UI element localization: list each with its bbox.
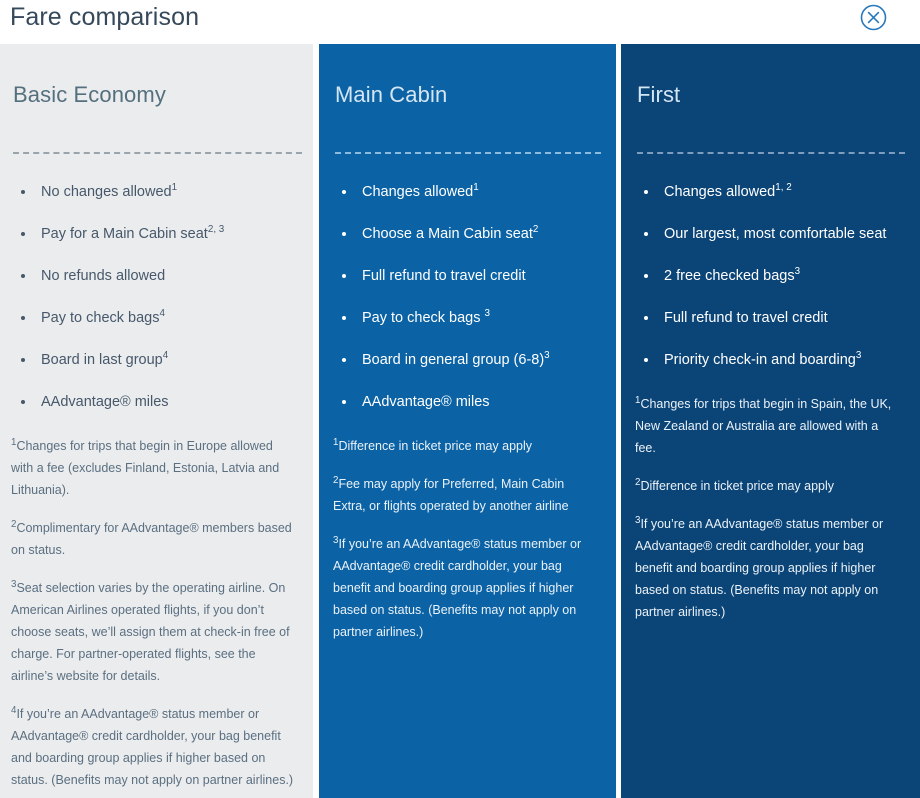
- footnote: 2Fee may apply for Preferred, Main Cabin…: [333, 473, 594, 517]
- footnote-text: Complimentary for AAdvantage® members ba…: [11, 521, 292, 557]
- footnote-ref: 3: [485, 308, 490, 319]
- fare-footnotes: 1Changes for trips that begin in Spain, …: [635, 393, 898, 623]
- bullet-icon: [21, 400, 25, 404]
- list-item: No changes allowed1: [19, 183, 313, 202]
- feature-text: Pay to check bags: [41, 310, 160, 326]
- footnote-ref: 3: [544, 350, 549, 361]
- footnote-ref: 1, 2: [775, 182, 791, 193]
- list-item: AAdvantage® miles: [19, 393, 313, 412]
- footnote: 3If you’re an AAdvantage® status member …: [333, 533, 594, 643]
- list-item: 2 free checked bags3: [642, 267, 920, 286]
- list-item: Full refund to travel credit: [340, 267, 616, 286]
- footnote-ref: 4: [163, 350, 168, 361]
- footnote-text: Seat selection varies by the operating a…: [11, 581, 290, 683]
- page-title: Fare comparison: [10, 1, 199, 33]
- bullet-icon: [21, 232, 25, 236]
- feature-text: Choose a Main Cabin seat: [362, 226, 533, 242]
- list-item: AAdvantage® miles: [340, 393, 616, 412]
- fare-column-title: Main Cabin: [319, 62, 616, 109]
- footnote: 3If you’re an AAdvantage® status member …: [635, 513, 898, 623]
- feature-text: Full refund to travel credit: [664, 310, 828, 326]
- feature-text: No changes allowed: [41, 184, 172, 200]
- feature-text: Board in general group (6-8): [362, 352, 544, 368]
- footnote-text: If you’re an AAdvantage® status member o…: [333, 537, 581, 639]
- fare-footnotes: 1Difference in ticket price may apply 2F…: [333, 435, 594, 643]
- feature-text: Priority check-in and boarding: [664, 352, 856, 368]
- bullet-icon: [644, 274, 648, 278]
- fare-column-title: Basic Economy: [0, 62, 313, 109]
- footnote-ref: 3: [795, 266, 800, 277]
- footnote-text: If you’re an AAdvantage® status member o…: [11, 707, 293, 787]
- footnote-ref: 3: [856, 350, 861, 361]
- bullet-icon: [644, 358, 648, 362]
- list-item: Pay to check bags 3: [340, 309, 616, 328]
- footnote-text: Difference in ticket price may apply: [338, 439, 532, 453]
- footnote-text: If you’re an AAdvantage® status member o…: [635, 517, 883, 619]
- list-item: Full refund to travel credit: [642, 309, 920, 328]
- footnote-ref: 2: [533, 224, 538, 235]
- list-item: Choose a Main Cabin seat2: [340, 225, 616, 244]
- feature-text: Our largest, most comfortable seat: [664, 226, 886, 242]
- footnote-text: Fee may apply for Preferred, Main Cabin …: [333, 477, 569, 513]
- close-circle-icon: [860, 4, 887, 31]
- list-item: Changes allowed1, 2: [642, 183, 920, 202]
- footnote: 4If you’re an AAdvantage® status member …: [11, 703, 295, 791]
- bullet-icon: [342, 358, 346, 362]
- footnote-ref: 1: [172, 182, 177, 193]
- bullet-icon: [342, 400, 346, 404]
- fare-feature-list: Changes allowed1 Choose a Main Cabin sea…: [340, 183, 616, 412]
- bullet-icon: [342, 274, 346, 278]
- list-item: Pay to check bags4: [19, 309, 313, 328]
- bullet-icon: [342, 232, 346, 236]
- fare-feature-list: Changes allowed1, 2 Our largest, most co…: [642, 183, 920, 370]
- feature-text: Pay to check bags: [362, 310, 485, 326]
- fare-comparison-columns: Basic Economy No changes allowed1 Pay fo…: [0, 44, 920, 798]
- bullet-icon: [21, 358, 25, 362]
- footnote-ref: 2, 3: [208, 224, 224, 235]
- feature-text: Full refund to travel credit: [362, 268, 526, 284]
- bullet-icon: [342, 190, 346, 194]
- footnote-text: Difference in ticket price may apply: [640, 479, 834, 493]
- footnote: 3Seat selection varies by the operating …: [11, 577, 295, 687]
- close-icon[interactable]: [860, 4, 887, 31]
- footnote: 2Difference in ticket price may apply: [635, 475, 898, 497]
- bullet-icon: [644, 190, 648, 194]
- feature-text: AAdvantage® miles: [362, 394, 490, 410]
- bullet-icon: [21, 274, 25, 278]
- feature-text: Changes allowed: [664, 184, 775, 200]
- list-item: Board in last group4: [19, 351, 313, 370]
- feature-text: Changes allowed: [362, 184, 473, 200]
- list-item: No refunds allowed: [19, 267, 313, 286]
- list-item: Changes allowed1: [340, 183, 616, 202]
- feature-text: Pay for a Main Cabin seat: [41, 226, 208, 242]
- fare-column-main-cabin: Main Cabin Changes allowed1 Choose a Mai…: [319, 44, 616, 798]
- bullet-icon: [342, 316, 346, 320]
- modal-header: Fare comparison: [0, 0, 920, 44]
- footnote-ref: 4: [160, 308, 165, 319]
- feature-text: Board in last group: [41, 352, 163, 368]
- list-item: Priority check-in and boarding3: [642, 351, 920, 370]
- bullet-icon: [21, 316, 25, 320]
- footnote: 1Changes for trips that begin in Europe …: [11, 435, 295, 501]
- bullet-icon: [644, 316, 648, 320]
- list-item: Pay for a Main Cabin seat2, 3: [19, 225, 313, 244]
- dashed-divider: [335, 152, 601, 154]
- fare-column-first: First Changes allowed1, 2 Our largest, m…: [621, 44, 920, 798]
- fare-footnotes: 1Changes for trips that begin in Europe …: [11, 435, 295, 791]
- bullet-icon: [644, 232, 648, 236]
- feature-text: AAdvantage® miles: [41, 394, 169, 410]
- fare-feature-list: No changes allowed1 Pay for a Main Cabin…: [19, 183, 313, 412]
- feature-text: No refunds allowed: [41, 268, 165, 284]
- dashed-divider: [13, 152, 302, 154]
- footnote-ref: 1: [473, 182, 478, 193]
- fare-column-title: First: [621, 62, 920, 109]
- footnote: 1Difference in ticket price may apply: [333, 435, 594, 457]
- dashed-divider: [637, 152, 905, 154]
- footnote-text: Changes for trips that begin in Europe a…: [11, 439, 279, 497]
- feature-text: 2 free checked bags: [664, 268, 795, 284]
- footnote: 2Complimentary for AAdvantage® members b…: [11, 517, 295, 561]
- list-item: Our largest, most comfortable seat: [642, 225, 920, 244]
- list-item: Board in general group (6-8)3: [340, 351, 616, 370]
- bullet-icon: [21, 190, 25, 194]
- footnote: 1Changes for trips that begin in Spain, …: [635, 393, 898, 459]
- fare-column-basic-economy: Basic Economy No changes allowed1 Pay fo…: [0, 44, 313, 798]
- footnote-text: Changes for trips that begin in Spain, t…: [635, 397, 891, 455]
